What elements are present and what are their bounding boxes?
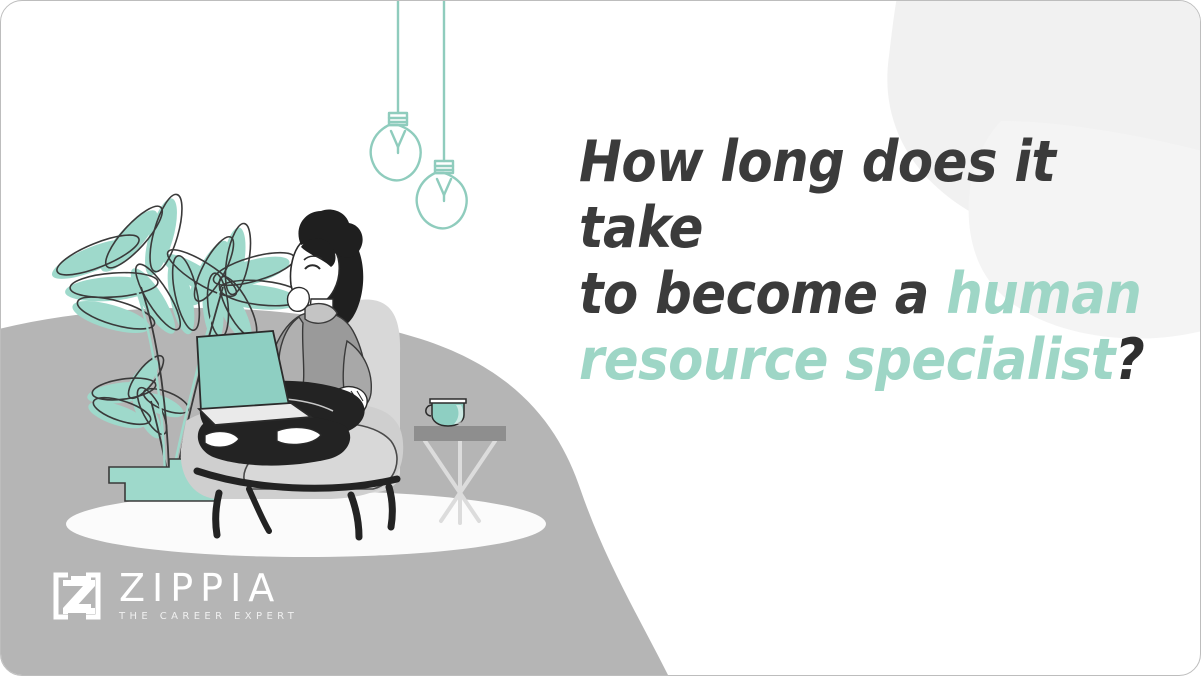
zippia-logo-text: ZIPPIA THE CAREER EXPERT — [119, 569, 298, 622]
headline-line-3-accent: resource specialist — [579, 327, 1115, 393]
headline-line-2-accent: human — [946, 261, 1141, 327]
hand-at-chin — [288, 288, 310, 312]
bulb-filament-left — [391, 131, 405, 147]
zippia-logo[interactable]: ZIPPIA THE CAREER EXPERT — [51, 569, 298, 622]
zippia-tagline: THE CAREER EXPERT — [119, 611, 298, 622]
headline-question-mark: ? — [1115, 327, 1144, 393]
promo-card: How long does it take to become a human … — [0, 0, 1201, 676]
zippia-z-monogram-icon — [51, 570, 103, 622]
bulb-glass-right — [417, 173, 467, 228]
page-title: How long does it take to become a human … — [579, 129, 1169, 393]
headline-line-1: How long does it take — [579, 129, 1055, 261]
cup-rim — [430, 399, 466, 403]
hanging-light-bulb-right — [417, 1, 467, 228]
laptop-screen — [197, 331, 289, 411]
bulb-glass-left — [371, 125, 421, 180]
bulb-filament-right — [437, 179, 451, 195]
hanging-light-bulb-left — [371, 1, 421, 180]
zippia-wordmark: ZIPPIA — [119, 569, 298, 607]
side-table-top — [414, 426, 506, 441]
headline-line-2-plain: to become a — [579, 261, 946, 327]
